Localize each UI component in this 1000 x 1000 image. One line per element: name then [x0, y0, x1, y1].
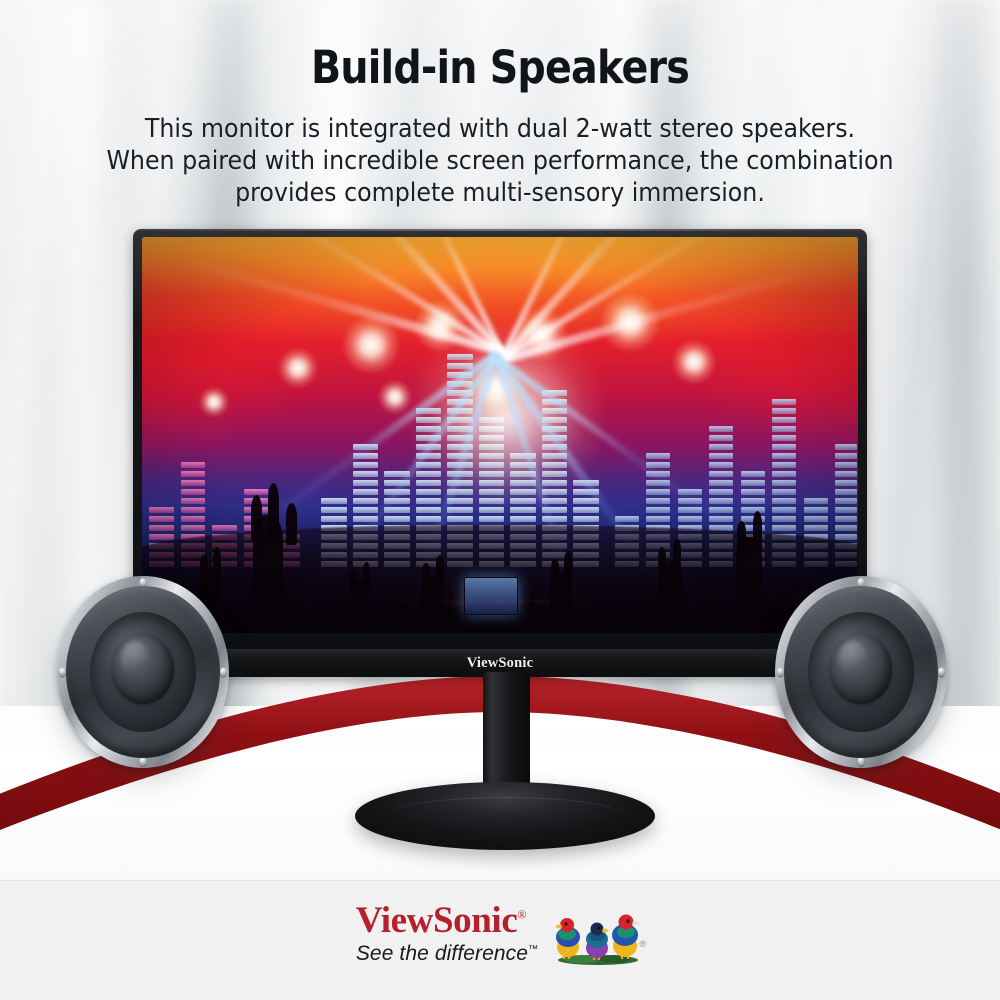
- speaker-bolt-icon: [777, 668, 784, 677]
- speaker-bolt-icon: [140, 757, 147, 766]
- finch-eye: [565, 922, 568, 925]
- brand-tagline: See the difference™: [356, 942, 538, 966]
- finch-head: [591, 923, 604, 936]
- tagline-text: See the difference: [356, 942, 528, 965]
- page-title: Build-in Speakers: [60, 41, 940, 94]
- speaker-dust-cap: [830, 634, 892, 704]
- left-finch: [555, 918, 580, 959]
- speaker-bolt-icon: [59, 668, 66, 677]
- trademark-mark: ™: [528, 944, 538, 955]
- speaker-bolt-icon: [220, 668, 227, 677]
- description-line-2: When paired with incredible screen perfo…: [63, 145, 937, 177]
- product-marketing-banner: Build-in Speakers This monitor is integr…: [0, 0, 1000, 1000]
- monitor-screen: [142, 237, 858, 633]
- speaker-bolt-icon: [938, 668, 945, 677]
- speaker-bolt-icon: [858, 757, 865, 766]
- description-line-1: This monitor is integrated with dual 2-w…: [63, 113, 937, 145]
- right-speaker: [775, 576, 947, 768]
- finch-head: [619, 915, 634, 930]
- speaker-rim: [57, 576, 229, 768]
- finch-eye: [626, 919, 629, 922]
- logo-wordmark: ViewSonic® See the difference™: [356, 902, 538, 966]
- registered-mark: ®: [517, 908, 526, 922]
- brand-name: ViewSonic®: [356, 902, 526, 939]
- finch-eye: [598, 927, 601, 930]
- speaker-surround: [66, 586, 220, 758]
- finches-icon: [552, 903, 644, 965]
- viewsonic-logo: ViewSonic® See the difference™: [0, 902, 1000, 966]
- speaker-cone: [808, 612, 914, 732]
- gouldian-finches-mascot: ®: [552, 903, 644, 965]
- perch-registered-mark: ®: [640, 939, 647, 949]
- monitor: ViewSonic: [133, 229, 867, 677]
- speaker-dust-cap: [112, 634, 174, 704]
- center-finch: [586, 923, 609, 961]
- finch-beak: [555, 924, 562, 928]
- page-description: This monitor is integrated with dual 2-w…: [63, 113, 937, 209]
- description-line-3: provides complete multi-sensory immersio…: [63, 177, 937, 209]
- footer-divider: [0, 880, 1000, 881]
- brand-name-text: ViewSonic: [356, 900, 518, 941]
- finch-beak: [632, 921, 640, 925]
- speaker-cone: [90, 612, 196, 732]
- left-speaker: [57, 576, 229, 768]
- speaker-surround: [784, 586, 938, 758]
- monitor-stand-base: [355, 782, 655, 850]
- screen-vignette: [142, 237, 858, 633]
- right-finch: [612, 915, 640, 960]
- finch-beak: [602, 928, 609, 932]
- speaker-rim: [775, 576, 947, 768]
